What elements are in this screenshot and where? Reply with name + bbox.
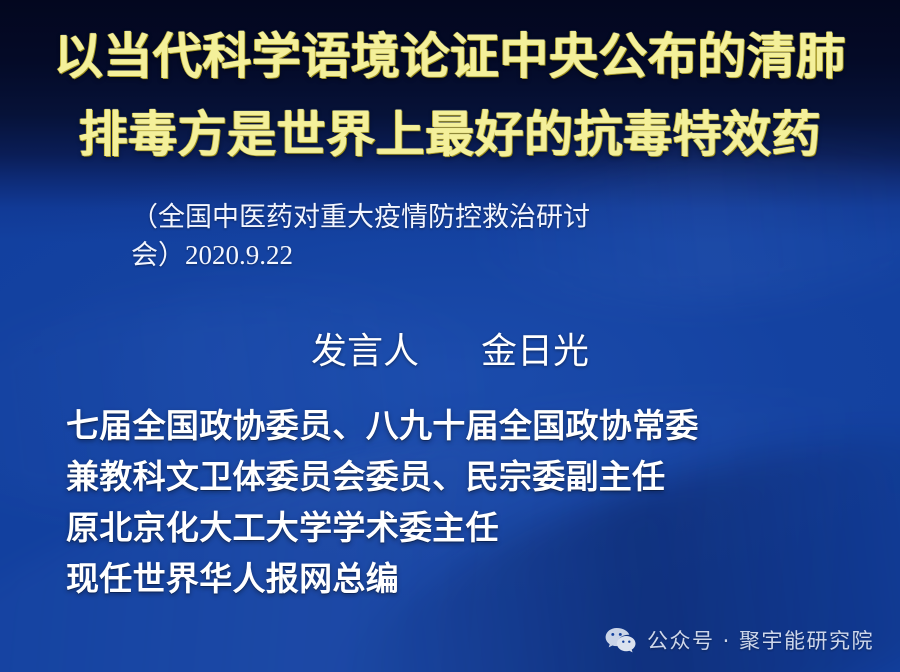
title-line-2: 排毒方是世界上最好的抗毒特效药 [0, 102, 900, 168]
slide-title: 以当代科学语境论证中央公布的清肺 排毒方是世界上最好的抗毒特效药 [0, 24, 900, 168]
subtitle-line-2: 会）2020.9.22 [131, 236, 771, 274]
speaker-row: 发言人金日光 [311, 327, 589, 375]
credential-line: 原北京化大工大学学术委主任 [66, 502, 699, 553]
credentials-list: 七届全国政协委员、八九十届全国政协常委 兼教科文卫体委员会委员、民宗委副主任 原… [66, 400, 699, 604]
credential-line: 现任世界华人报网总编 [66, 553, 699, 604]
wechat-icon [605, 627, 636, 654]
watermark-text: 公众号 · 聚宇能研究院 [647, 628, 874, 654]
credential-line: 兼教科文卫体委员会委员、民宗委副主任 [66, 451, 699, 502]
title-line-1: 以当代科学语境论证中央公布的清肺 [0, 24, 900, 90]
speaker-label: 发言人 [311, 331, 419, 371]
slide-subtitle: （全国中医药对重大疫情防控救治研讨 会）2020.9.22 [131, 198, 771, 274]
credential-line: 七届全国政协委员、八九十届全国政协常委 [66, 400, 699, 451]
presentation-slide: 以当代科学语境论证中央公布的清肺 排毒方是世界上最好的抗毒特效药 （全国中医药对… [0, 0, 900, 672]
subtitle-line-1: （全国中医药对重大疫情防控救治研讨 [131, 198, 771, 236]
speaker-name: 金日光 [481, 331, 589, 371]
speaker-block: 发言人金日光 [0, 327, 900, 375]
watermark: 公众号 · 聚宇能研究院 [605, 627, 874, 654]
